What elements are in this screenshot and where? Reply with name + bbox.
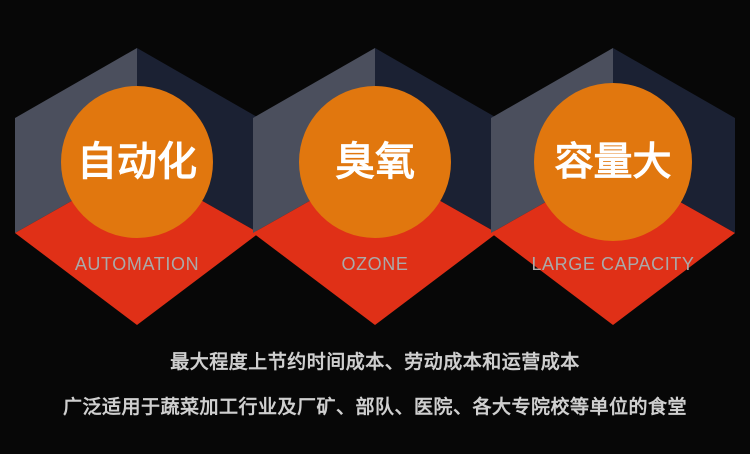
bottom-description-line-2: 广泛适用于蔬菜加工行业及厂矿、部队、医院、各大专院校等单位的食堂 xyxy=(0,397,750,420)
feature-hexagon-ozone[interactable]: 臭氧 OZONE xyxy=(253,48,497,325)
feature-en-label-2: OZONE xyxy=(253,254,497,275)
feature-circle-3: 容量大 xyxy=(534,83,692,241)
bottom-description: 最大程度上节约时间成本、劳动成本和运营成本 广泛适用于蔬菜加工行业及厂矿、部队、… xyxy=(0,352,750,420)
promo-banner: 自动化 AUTOMATION 臭氧 OZONE 容量大 xyxy=(0,0,750,454)
feature-circle-2: 臭氧 xyxy=(299,86,451,238)
feature-hexagon-large-capacity[interactable]: 容量大 LARGE CAPACITY xyxy=(491,48,735,325)
feature-circle-1: 自动化 xyxy=(61,86,213,238)
feature-cn-label-3: 容量大 xyxy=(554,143,671,182)
feature-cn-label-2: 臭氧 xyxy=(335,142,415,182)
feature-hexagon-automation[interactable]: 自动化 AUTOMATION xyxy=(15,48,259,325)
bottom-description-line-1: 最大程度上节约时间成本、劳动成本和运营成本 xyxy=(0,352,750,375)
feature-hexagon-row: 自动化 AUTOMATION 臭氧 OZONE 容量大 xyxy=(0,0,750,340)
feature-en-label-3: LARGE CAPACITY xyxy=(491,254,735,275)
feature-cn-label-1: 自动化 xyxy=(77,142,197,182)
feature-en-label-1: AUTOMATION xyxy=(15,254,259,275)
